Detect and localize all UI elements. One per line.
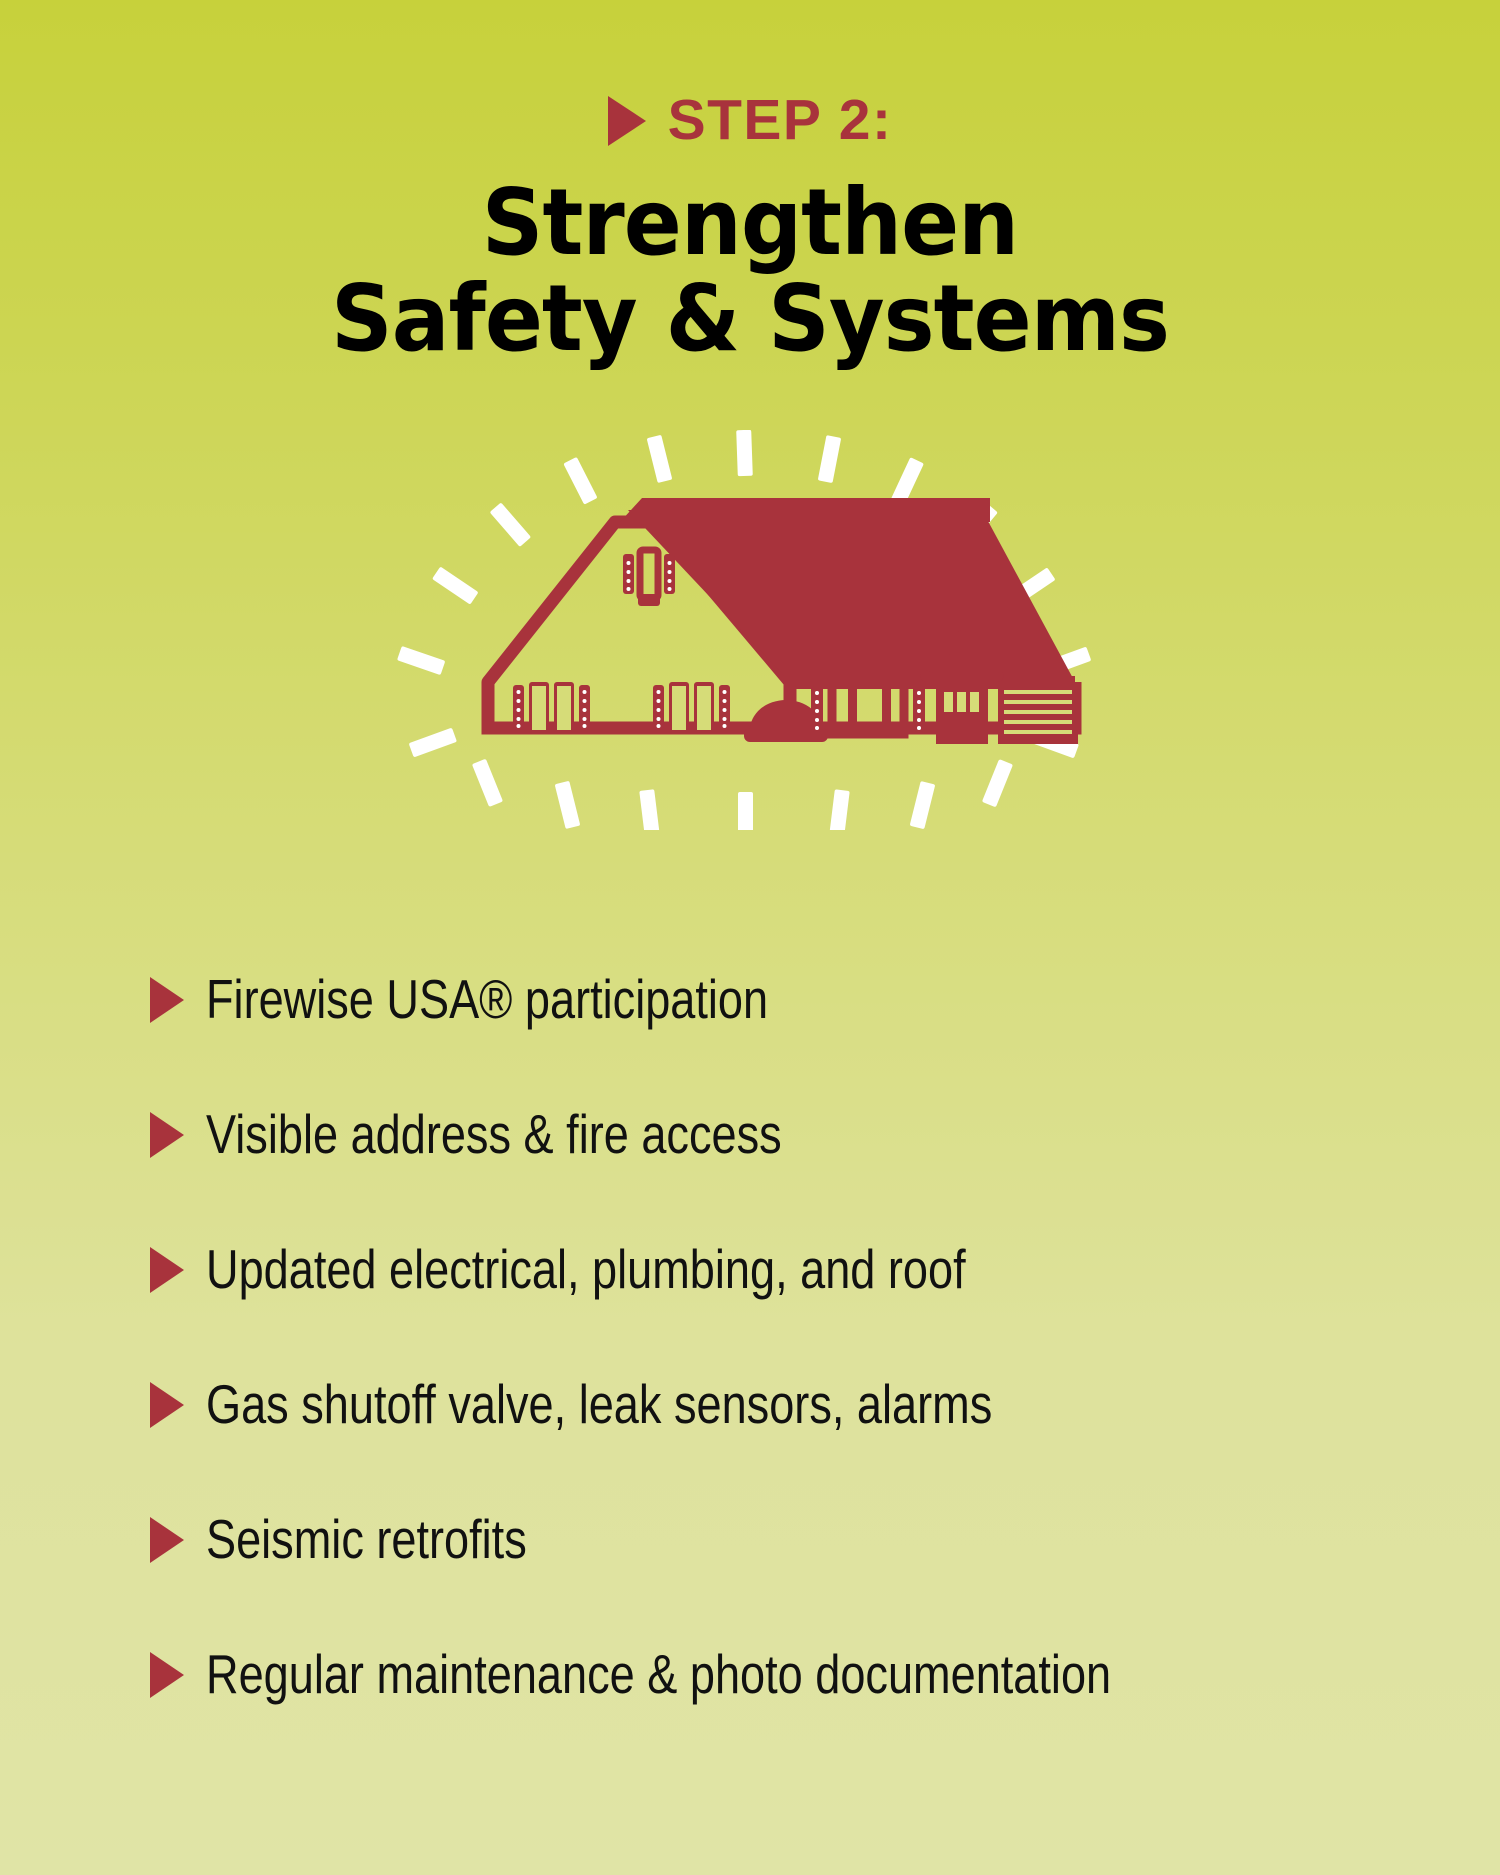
list-item[interactable]: Regular maintenance & photo documentatio… — [150, 1623, 1430, 1726]
step-label: STEP 2: — [668, 92, 893, 149]
step-heading: STEP 2: — [0, 0, 1500, 149]
triangle-right-icon — [150, 1247, 184, 1293]
page-title-line-1: Strengthen — [53, 175, 1448, 271]
house-with-rays-icon — [370, 430, 1130, 830]
list-item[interactable]: Seismic retrofits — [150, 1488, 1430, 1591]
triangle-right-icon — [150, 1382, 184, 1428]
triangle-right-icon — [150, 977, 184, 1023]
page-title-line-2: Safety & Systems — [53, 271, 1448, 367]
list-item-label: Seismic retrofits — [206, 1512, 527, 1567]
list-item-label: Regular maintenance & photo documentatio… — [206, 1647, 1111, 1702]
triangle-right-icon — [608, 96, 646, 146]
triangle-right-icon — [150, 1652, 184, 1698]
house-body — [488, 498, 1078, 744]
header: STEP 2: Strengthen Safety & Systems — [0, 0, 1500, 366]
infographic-page: STEP 2: Strengthen Safety & Systems — [0, 0, 1500, 1875]
triangle-right-icon — [150, 1517, 184, 1563]
list-item[interactable]: Updated electrical, plumbing, and roof — [150, 1218, 1430, 1321]
triangle-right-icon — [150, 1112, 184, 1158]
list-item[interactable]: Gas shutoff valve, leak sensors, alarms — [150, 1353, 1430, 1456]
list-item[interactable]: Visible address & fire access — [150, 1083, 1430, 1186]
list-item[interactable]: Firewise USA® participation — [150, 948, 1430, 1051]
attic-vent — [623, 550, 675, 606]
page-title: Strengthen Safety & Systems — [53, 175, 1448, 366]
front-door — [936, 682, 988, 744]
list-item-label: Visible address & fire access — [206, 1107, 782, 1162]
house-illustration — [0, 430, 1500, 850]
list-item-label: Gas shutoff valve, leak sensors, alarms — [206, 1377, 992, 1432]
list-item-label: Firewise USA® participation — [206, 972, 768, 1027]
list-item-label: Updated electrical, plumbing, and roof — [206, 1242, 966, 1297]
garage-door — [998, 682, 1078, 744]
checklist: Firewise USA® participation Visible addr… — [150, 948, 1430, 1758]
